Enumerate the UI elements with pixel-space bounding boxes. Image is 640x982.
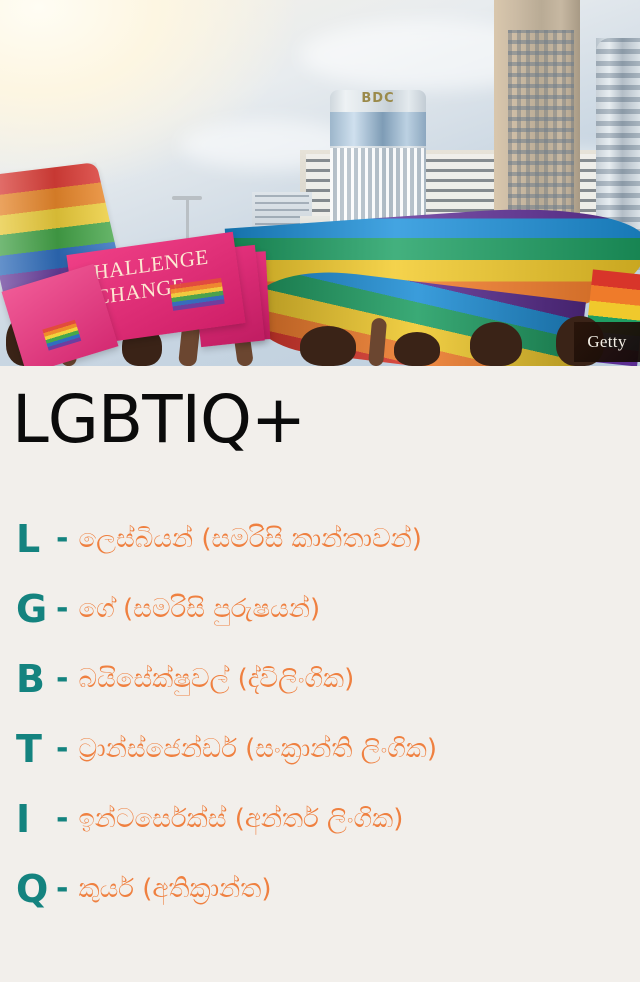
row-dash: - [56,874,68,904]
person-head [394,332,440,366]
acronym-letter-g: G [16,589,56,629]
building-sign-label: BDC [361,92,394,106]
acronym-letter-i: I [16,799,56,839]
definition-text-b: බයිසේක්ෂුවල් (ද්විලිංගික) [78,662,354,696]
placard-rainbow-graphic [42,320,81,351]
acronym-letter-t: T [16,729,56,769]
tower-glass-band [330,112,426,146]
acronym-letter-q: Q [16,869,56,909]
person-head [470,322,522,366]
definition-text-q: කුයර් (අතික්‍රාන්ත) [78,872,271,906]
definition-row-g: G - ගේ (සමරිසි පුරුෂයන්) [0,574,640,644]
definition-text-l: ලෙස්බියන් (සමරිසි කාන්තාවන්) [78,522,422,556]
definition-row-l: L - ලෙස්බියන් (සමරිසි කාන්තාවන්) [0,504,640,574]
row-dash: - [56,664,68,694]
definition-text-g: ගේ (සමරිසි පුරුෂයන්) [78,592,320,626]
definition-row-t: T - ට්‍රාන්ස්ජෙන්ඩර් (සංක්‍රාන්ති ලිංගික… [0,714,640,784]
row-dash: - [56,804,68,834]
definition-row-i: I - ඉන්ටර්සෙක්ස් (අන්තර් ලිංගික) [0,784,640,854]
person-head [300,326,356,366]
definitions-list: L - ලෙස්බියන් (සමරිසි කාන්තාවන්) G - ගේ … [0,504,640,924]
definition-text-i: ඉන්ටර්සෙක්ස් (අන්තර් ලිංගික) [78,802,403,836]
row-dash: - [56,594,68,624]
page-title: LGBTIQ+ [12,384,305,456]
page-root: BDC [0,0,640,982]
definition-text-t: ට්‍රාන්ස්ජෙන්ඩර් (සංක්‍රාන්ති ලිංගික) [78,732,437,766]
definition-row-b: B - බයිසේක්ෂුවල් (ද්විලිංගික) [0,644,640,714]
pride-parade-photo: BDC [0,0,640,366]
acronym-letter-l: L [16,519,56,559]
definition-row-q: Q - කුයර් (අතික්‍රාන්ත) [0,854,640,924]
row-dash: - [56,524,68,554]
person-arm [368,318,387,366]
acronym-letter-b: B [16,659,56,699]
getty-watermark-label: Getty [587,332,626,352]
placard-rainbow-graphic [170,278,225,311]
row-dash: - [56,734,68,764]
definitions-panel: LGBTIQ+ L - ලෙස්බියන් (සමරිසි කාන්තාවන්)… [0,366,640,982]
getty-watermark: Getty [574,322,640,362]
